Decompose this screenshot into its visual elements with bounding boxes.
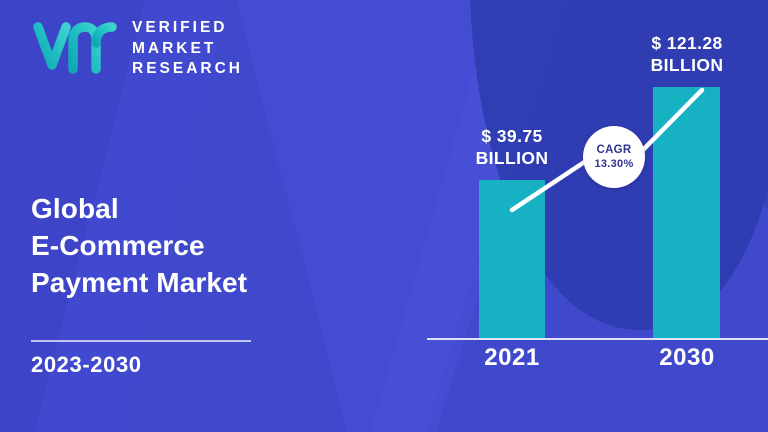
brand-wordmark: VERIFIED MARKET RESEARCH [132,18,243,77]
bar-value-label-2021: $ 39.75 BILLION [454,126,570,170]
title-line-3: Payment Market [31,264,247,301]
title-line-2: E-Commerce [31,227,247,264]
bar-value-unit-2030: BILLION [626,55,748,77]
axis-label-2021: 2021 [457,344,567,372]
bar-value-label-2030: $ 121.28 BILLION [626,33,748,77]
forecast-period: 2023-2030 [31,352,142,378]
bar-value-unit-2021: BILLION [454,148,570,170]
chart-baseline [427,338,768,340]
bar-2021 [479,180,545,339]
bar-value-amount-2030: $ 121.28 [626,33,748,55]
brand-logo: VERIFIED MARKET RESEARCH [32,18,243,77]
cagr-badge: CAGR 13.30% [583,126,645,188]
cagr-label: CAGR [596,144,631,157]
title-line-1: Global [31,190,247,227]
bar-2030 [653,87,720,339]
title-divider [31,340,251,342]
vmr-logo-icon [32,19,118,75]
brand-line-1: VERIFIED [132,20,243,36]
cagr-value: 13.30% [594,158,633,171]
infographic-canvas: VERIFIED MARKET RESEARCH Global E-Commer… [0,0,768,432]
brand-line-3: RESEARCH [132,61,243,77]
axis-label-2030: 2030 [632,344,742,372]
bar-chart: $ 39.75 BILLION $ 121.28 BILLION CAGR 13… [420,0,768,432]
page-title: Global E-Commerce Payment Market [31,190,247,302]
bar-value-amount-2021: $ 39.75 [454,126,570,148]
brand-line-2: MARKET [132,41,243,57]
